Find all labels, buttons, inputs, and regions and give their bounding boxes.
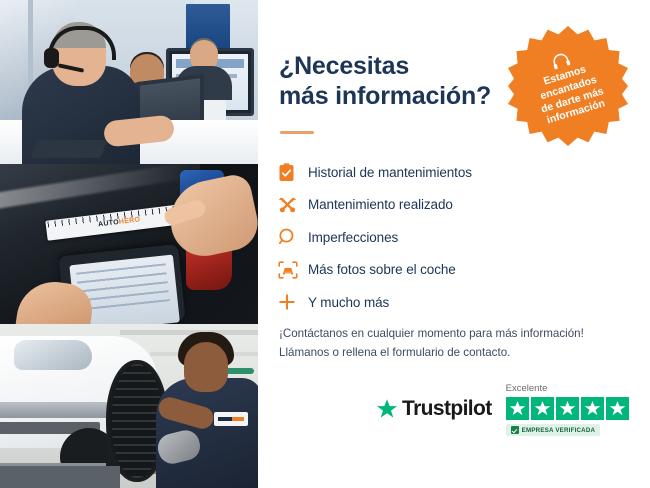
trustpilot-widget[interactable]: Trustpilot Excelente EMPRESA VERIFICADA	[376, 383, 631, 439]
ruler-brand-2: HERO	[119, 216, 141, 226]
car-photo-frame-icon	[278, 261, 308, 279]
list-item: Imperfecciones	[278, 221, 538, 254]
star-box	[606, 397, 629, 420]
crossed-tools-icon	[278, 195, 308, 214]
headline-line-2: más información?	[279, 82, 519, 112]
promo-badge: Estamos encantados de darte más informac…	[508, 26, 628, 146]
status-badge: EMPRESA VERIFICADA	[506, 424, 601, 436]
star-rating	[506, 397, 631, 420]
trustpilot-wordmark: Trustpilot	[402, 397, 492, 421]
list-item: Historial de mantenimientos	[278, 156, 538, 189]
list-item-label: Historial de mantenimientos	[308, 165, 472, 180]
star-box	[506, 397, 529, 420]
check-icon	[511, 426, 519, 434]
list-item: Más fotos sobre el coche	[278, 254, 538, 287]
list-item-label: Y mucho más	[308, 295, 389, 310]
car-inspection-ruler-photo: AUTOHERO	[0, 164, 258, 324]
plus-icon	[278, 293, 308, 311]
contact-line-2: Llámanos o rellena el formulario de cont…	[279, 344, 639, 363]
contact-text: ¡Contáctanos en cualquier momento para m…	[279, 325, 639, 363]
headline-line-1: ¿Necesitas	[279, 52, 519, 82]
trustpilot-star-icon	[376, 398, 398, 420]
list-item-label: Imperfecciones	[308, 230, 398, 245]
feature-list: Historial de mantenimientos M	[278, 156, 538, 319]
list-item: Mantenimiento realizado	[278, 189, 538, 222]
verified-label: EMPRESA VERIFICADA	[522, 427, 596, 434]
information-banner: AUTOHERO ¿Necesitas más información?	[0, 0, 650, 488]
ruler-brand-1: AUTO	[98, 219, 120, 228]
list-item: Y mucho más	[278, 286, 538, 319]
clipboard-check-icon	[278, 163, 308, 182]
star-box	[556, 397, 579, 420]
star-box	[581, 397, 604, 420]
call-center-agent-photo	[0, 0, 258, 164]
list-item-label: Mantenimiento realizado	[308, 197, 453, 212]
page-title: ¿Necesitas más información?	[279, 52, 519, 111]
mechanic-wheel-inspection-photo	[0, 324, 258, 488]
list-item-label: Más fotos sobre el coche	[308, 262, 456, 277]
trustpilot-rating: Excelente EMPRESA VERIFICADA	[506, 383, 631, 439]
content-panel: ¿Necesitas más información? Estamos enca…	[258, 0, 650, 488]
magnifier-icon	[278, 228, 308, 246]
photo-column: AUTOHERO	[0, 0, 258, 488]
trustpilot-logo: Trustpilot	[376, 397, 492, 421]
star-box	[531, 397, 554, 420]
title-underline-accent	[280, 131, 314, 134]
rating-label: Excelente	[506, 383, 631, 394]
contact-line-1: ¡Contáctanos en cualquier momento para m…	[279, 325, 639, 344]
